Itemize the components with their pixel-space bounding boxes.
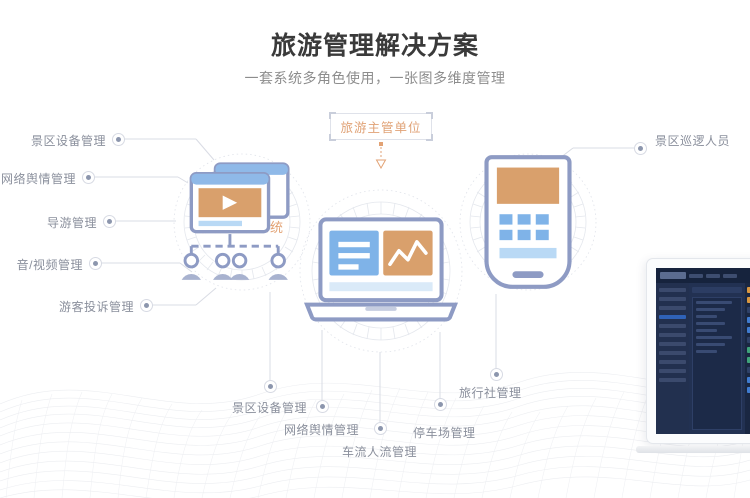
node-label-bottom-3: 车流人流管理 <box>342 443 417 460</box>
tree-row[interactable] <box>696 343 725 346</box>
dashboard-body <box>656 283 750 434</box>
infographic-canvas: 旅游管理解决方案 一套系统多角色使用，一张图多维度管理 旅游主管单位 <box>0 0 750 498</box>
sidebar-item[interactable] <box>659 297 686 301</box>
tree-row[interactable] <box>696 315 717 318</box>
dashboard-topbar-tab[interactable] <box>689 274 703 278</box>
badge-corner-top-left-icon <box>329 112 336 119</box>
authority-badge[interactable]: 旅游主管单位 <box>330 113 432 140</box>
laptop-base <box>636 446 750 453</box>
node-label-bottom-5: 旅行社管理 <box>459 384 522 401</box>
node-dot-right-1[interactable] <box>634 142 647 155</box>
dashboard-main-panel <box>689 283 745 434</box>
node-dot-left-1[interactable] <box>112 133 125 146</box>
sidebar-item[interactable] <box>659 360 686 364</box>
dashboard-screen[interactable] <box>656 268 750 434</box>
page-title: 旅游管理解决方案 <box>0 26 750 62</box>
sidebar-item[interactable] <box>659 351 686 355</box>
dashboard-sidebar[interactable] <box>656 283 689 434</box>
sidebar-item[interactable] <box>659 378 686 382</box>
laptop-dashboard-icon <box>298 188 464 354</box>
hub-mobile-enforcement[interactable]: 移动执法端 <box>458 152 598 292</box>
sidebar-item[interactable] <box>659 369 686 373</box>
sidebar-item[interactable] <box>659 288 686 292</box>
node-label-left-3: 导游管理 <box>27 214 97 231</box>
node-dot-bottom-4[interactable] <box>434 398 447 411</box>
authority-badge-label: 旅游主管单位 <box>330 113 432 140</box>
node-label-left-4: 音/视频管理 <box>1 256 83 273</box>
sidebar-item[interactable] <box>659 333 686 337</box>
hub-video-conference[interactable]: 视频会议系统 <box>172 152 312 292</box>
sidebar-item[interactable] <box>659 306 686 310</box>
dashboard-tree-card <box>692 297 742 430</box>
tree-row[interactable] <box>696 329 717 332</box>
node-dot-bottom-5[interactable] <box>490 368 503 381</box>
dashboard-brand-logo <box>660 272 686 279</box>
dashboard-topbar-tab[interactable] <box>706 274 720 278</box>
node-dot-bottom-1[interactable] <box>264 380 277 393</box>
page-subtitle: 一套系统多角色使用，一张图多维度管理 <box>0 68 750 88</box>
sidebar-item[interactable] <box>659 342 686 346</box>
badge-corner-bottom-right-icon <box>426 134 433 141</box>
node-label-bottom-4: 停车场管理 <box>413 424 476 441</box>
node-dot-bottom-2[interactable] <box>316 400 329 413</box>
tree-row[interactable] <box>696 308 725 311</box>
badge-down-arrow-icon <box>375 142 387 170</box>
dashboard-icon-rail <box>745 283 750 434</box>
mobile-device-icon <box>458 152 598 292</box>
node-dot-left-4[interactable] <box>89 257 102 270</box>
dashboard-topbar-tab[interactable] <box>723 274 737 278</box>
node-label-left-5: 游客投诉管理 <box>52 298 134 315</box>
dashboard-laptop-mockup <box>636 258 750 466</box>
video-window-icon <box>172 152 312 292</box>
node-label-bottom-2: 网络舆情管理 <box>284 421 359 438</box>
node-label-left-1: 景区设备管理 <box>24 132 106 149</box>
node-label-left-2: 网络舆情管理 <box>0 170 76 187</box>
hub-integrated-platform[interactable]: 旅游综管平台 <box>298 188 464 354</box>
tree-row[interactable] <box>696 301 732 304</box>
dashboard-topbar <box>656 268 750 283</box>
badge-corner-bottom-left-icon <box>329 134 336 141</box>
dashboard-filter-bar[interactable] <box>692 287 742 293</box>
node-dot-bottom-3[interactable] <box>374 422 387 435</box>
laptop-lid <box>646 258 750 444</box>
node-dot-left-3[interactable] <box>103 215 116 228</box>
tree-row[interactable] <box>696 336 732 339</box>
node-label-bottom-1: 景区设备管理 <box>232 399 307 416</box>
tree-row[interactable] <box>696 350 717 353</box>
node-dot-left-5[interactable] <box>140 299 153 312</box>
tree-row[interactable] <box>696 322 725 325</box>
sidebar-item-active[interactable] <box>659 315 686 319</box>
badge-corner-top-right-icon <box>426 112 433 119</box>
node-dot-left-2[interactable] <box>82 171 95 184</box>
node-label-right-1: 景区巡逻人员 <box>655 132 730 149</box>
sidebar-item[interactable] <box>659 324 686 328</box>
